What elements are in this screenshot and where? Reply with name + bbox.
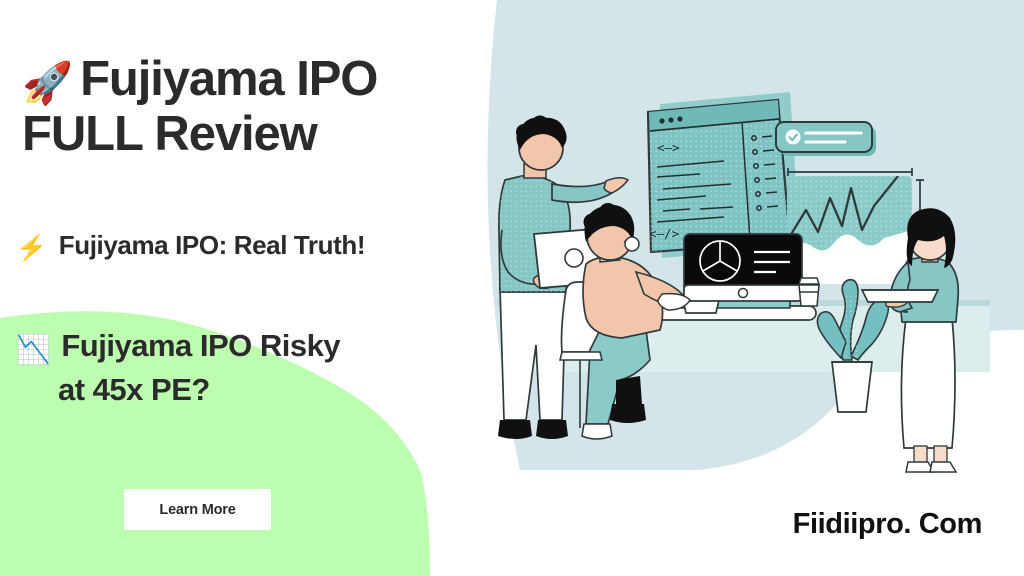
risk-headline-line-2: at 45x PE? bbox=[16, 369, 486, 411]
page-title: 🚀Fujiyama IPO FULL Review bbox=[22, 52, 522, 162]
subheadline: ⚡Fujiyama IPO: Real Truth! bbox=[16, 230, 516, 263]
rocket-emoji: 🚀 bbox=[22, 60, 73, 106]
brand-watermark: Fiidiipro. Com bbox=[793, 508, 982, 541]
learn-more-button[interactable]: Learn More bbox=[124, 489, 271, 530]
promo-banner: <—> <—/> bbox=[0, 0, 1024, 576]
subheadline-text: Fujiyama IPO: Real Truth! bbox=[59, 230, 365, 260]
headline-line-1: Fujiyama IPO bbox=[80, 52, 377, 106]
risk-headline-line-1: Fujiyama IPO Risky bbox=[61, 328, 340, 363]
high-voltage-emoji: ⚡ bbox=[16, 234, 47, 262]
chart-decreasing-emoji: 📉 bbox=[16, 334, 50, 365]
risk-headline: 📉Fujiyama IPO Risky at 45x PE? bbox=[16, 325, 486, 411]
headline-line-2: FULL Review bbox=[22, 107, 317, 161]
learn-more-label: Learn More bbox=[159, 502, 235, 518]
